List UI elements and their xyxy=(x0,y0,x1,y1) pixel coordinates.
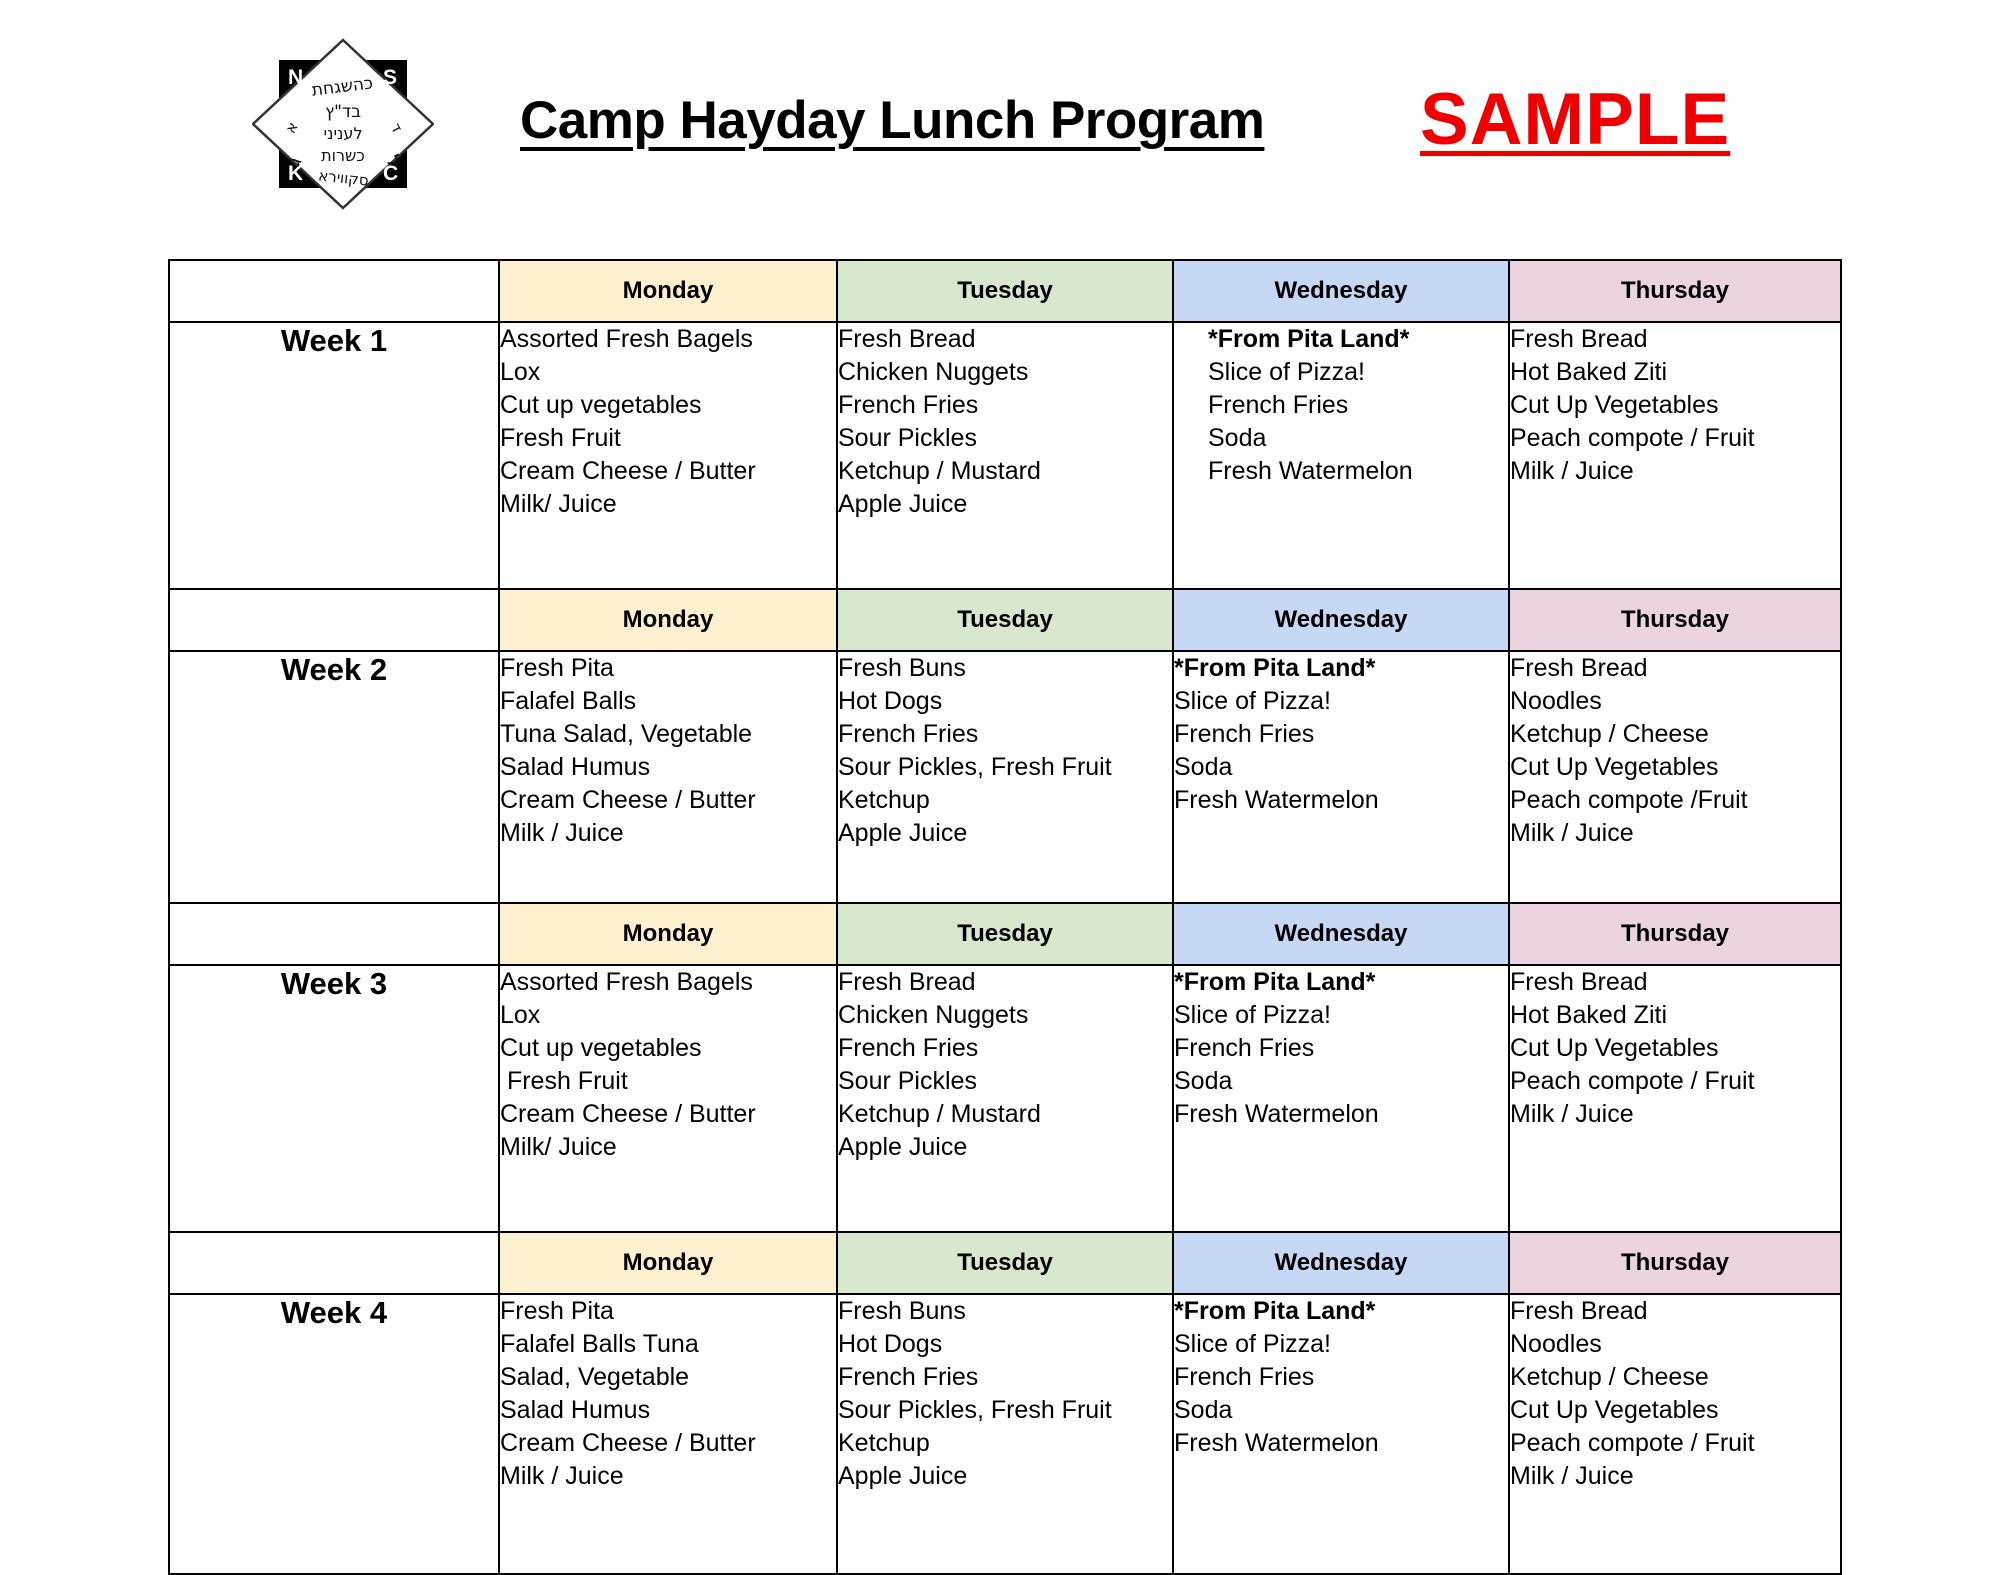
meal-cell-week2-wednesday: *From Pita Land*Slice of Pizza!French Fr… xyxy=(1173,651,1509,903)
svg-text:N: N xyxy=(288,66,303,89)
day-header-row-week-4: Monday Tuesday Wednesday Thursday xyxy=(169,1232,1841,1294)
menu-item: Slice of Pizza! xyxy=(1174,999,1508,1032)
menu-item: Milk / Juice xyxy=(1510,455,1840,488)
meal-cell-week3-tuesday: Fresh BreadChicken NuggetsFrench FriesSo… xyxy=(837,965,1173,1232)
menu-item: Fresh Buns xyxy=(838,1295,1172,1328)
menu-item: Apple Juice xyxy=(838,817,1172,850)
menu-item: Ketchup xyxy=(838,1427,1172,1460)
day-header-thursday: Thursday xyxy=(1509,260,1841,322)
menu-item: Cream Cheese / Butter xyxy=(500,455,836,488)
menu-item: Milk / Juice xyxy=(1510,1098,1840,1131)
menu-item: Peach compote / Fruit xyxy=(1510,422,1840,455)
page-title: Camp Hayday Lunch Program xyxy=(520,90,1264,151)
menu-item: Soda xyxy=(1174,1394,1508,1427)
menu-item: Cut Up Vegetables xyxy=(1510,389,1840,422)
meal-cell-week3-monday: Assorted Fresh BagelsLoxCut up vegetable… xyxy=(499,965,837,1232)
menu-item: Salad, Vegetable xyxy=(500,1361,836,1394)
menu-item: Falafel Balls xyxy=(500,685,836,718)
menu-item: Chicken Nuggets xyxy=(838,356,1172,389)
menu-item: Noodles xyxy=(1510,685,1840,718)
menu-item: Fresh Bread xyxy=(838,323,1172,356)
menu-item: French Fries xyxy=(838,1032,1172,1065)
kosher-supervision-diamond-logo: N S K C כהשגחת בד"ץ לעניני כשרות סקווירא… xyxy=(252,38,434,210)
day-header-monday: Monday xyxy=(499,1232,837,1294)
menu-item: Cut up vegetables xyxy=(500,1032,836,1065)
menu-item: Fresh Pita xyxy=(500,652,836,685)
menu-item: Noodles xyxy=(1510,1328,1840,1361)
meal-cell-week3-wednesday: *From Pita Land*Slice of Pizza!French Fr… xyxy=(1173,965,1509,1232)
menu-item: Milk / Juice xyxy=(500,1460,836,1493)
svg-text:לעניני: לעניני xyxy=(323,124,362,143)
menu-item: Fresh Bread xyxy=(1510,966,1840,999)
week-label-2: Week 2 xyxy=(169,651,499,903)
meal-cell-week4-thursday: Fresh BreadNoodlesKetchup / CheeseCut Up… xyxy=(1509,1294,1841,1574)
menu-item: Slice of Pizza! xyxy=(1174,685,1508,718)
menu-item: Fresh Bread xyxy=(1510,652,1840,685)
week-label-3: Week 3 xyxy=(169,965,499,1232)
menu-item: Milk/ Juice xyxy=(500,488,836,521)
day-header-row-week-1: Monday Tuesday Wednesday Thursday xyxy=(169,260,1841,322)
day-header-monday: Monday xyxy=(499,260,837,322)
day-header-thursday: Thursday xyxy=(1509,589,1841,651)
menu-item: Peach compote /Fruit xyxy=(1510,784,1840,817)
menu-item: *From Pita Land* xyxy=(1174,652,1508,685)
menu-item: Fresh Bread xyxy=(838,966,1172,999)
day-header-wednesday: Wednesday xyxy=(1173,589,1509,651)
menu-item: Milk/ Juice xyxy=(500,1131,836,1164)
menu-item: Fresh Fruit xyxy=(500,422,836,455)
menu-item: Milk / Juice xyxy=(500,817,836,850)
meal-cell-week3-thursday: Fresh BreadHot Baked ZitiCut Up Vegetabl… xyxy=(1509,965,1841,1232)
menu-item: Apple Juice xyxy=(838,1460,1172,1493)
day-header-wednesday: Wednesday xyxy=(1173,1232,1509,1294)
table-row-week-1: Week 1 Assorted Fresh BagelsLoxCut up ve… xyxy=(169,322,1841,589)
menu-item: Assorted Fresh Bagels xyxy=(500,323,836,356)
week-label-4: Week 4 xyxy=(169,1294,499,1574)
menu-item: Hot Baked Ziti xyxy=(1510,356,1840,389)
meal-cell-week4-tuesday: Fresh BunsHot DogsFrench FriesSour Pickl… xyxy=(837,1294,1173,1574)
menu-item: Milk / Juice xyxy=(1510,817,1840,850)
week-label-1: Week 1 xyxy=(169,322,499,589)
menu-item: Cut Up Vegetables xyxy=(1510,751,1840,784)
menu-item: Cream Cheese / Butter xyxy=(500,1427,836,1460)
menu-item: Hot Dogs xyxy=(838,685,1172,718)
menu-item: Sour Pickles xyxy=(838,422,1172,455)
menu-item: Sour Pickles, Fresh Fruit xyxy=(838,1394,1172,1427)
menu-item: Salad Humus xyxy=(500,751,836,784)
day-header-tuesday: Tuesday xyxy=(837,1232,1173,1294)
menu-item: Apple Juice xyxy=(838,488,1172,521)
meal-cell-week1-thursday: Fresh BreadHot Baked ZitiCut Up Vegetabl… xyxy=(1509,322,1841,589)
menu-item: French Fries xyxy=(838,1361,1172,1394)
svg-text:בד"ץ: בד"ץ xyxy=(325,102,361,122)
menu-item: Cream Cheese / Butter xyxy=(500,1098,836,1131)
day-header-tuesday: Tuesday xyxy=(837,589,1173,651)
day-header-tuesday: Tuesday xyxy=(837,260,1173,322)
menu-item: Fresh Buns xyxy=(838,652,1172,685)
menu-item: Cut up vegetables xyxy=(500,389,836,422)
menu-item: Chicken Nuggets xyxy=(838,999,1172,1032)
day-header-wednesday: Wednesday xyxy=(1173,903,1509,965)
menu-item: Fresh Watermelon xyxy=(1174,1427,1508,1460)
menu-item: Cut Up Vegetables xyxy=(1510,1032,1840,1065)
menu-item: *From Pita Land* xyxy=(1208,323,1508,356)
day-header-row-week-3: Monday Tuesday Wednesday Thursday xyxy=(169,903,1841,965)
day-header-wednesday: Wednesday xyxy=(1173,260,1509,322)
lunch-program-page: N S K C כהשגחת בד"ץ לעניני כשרות סקווירא… xyxy=(0,0,2000,1545)
day-header-thursday: Thursday xyxy=(1509,903,1841,965)
meal-cell-week2-tuesday: Fresh BunsHot DogsFrench FriesSour Pickl… xyxy=(837,651,1173,903)
menu-item: Soda xyxy=(1174,751,1508,784)
menu-item: Fresh Watermelon xyxy=(1174,1098,1508,1131)
menu-item: Lox xyxy=(500,999,836,1032)
menu-item: Ketchup xyxy=(838,784,1172,817)
menu-item: Lox xyxy=(500,356,836,389)
menu-item: Hot Baked Ziti xyxy=(1510,999,1840,1032)
menu-item: Sour Pickles xyxy=(838,1065,1172,1098)
menu-item: Fresh Pita xyxy=(500,1295,836,1328)
menu-item: Falafel Balls Tuna xyxy=(500,1328,836,1361)
menu-item: French Fries xyxy=(1208,389,1508,422)
menu-item: Ketchup / Mustard xyxy=(838,1098,1172,1131)
menu-item: Cream Cheese / Butter xyxy=(500,784,836,817)
menu-item: Cut Up Vegetables xyxy=(1510,1394,1840,1427)
menu-item: Ketchup / Cheese xyxy=(1510,1361,1840,1394)
meal-cell-week4-monday: Fresh PitaFalafel Balls TunaSalad, Veget… xyxy=(499,1294,837,1574)
menu-item: Soda xyxy=(1208,422,1508,455)
menu-item: Fresh Bread xyxy=(1510,323,1840,356)
menu-item: French Fries xyxy=(1174,1361,1508,1394)
table-row-week-2: Week 2 Fresh PitaFalafel BallsTuna Salad… xyxy=(169,651,1841,903)
menu-table-body: Monday Tuesday Wednesday Thursday Week 1… xyxy=(169,260,1841,1574)
menu-item: Fresh Watermelon xyxy=(1208,455,1508,488)
page-header: N S K C כהשגחת בד"ץ לעניני כשרות סקווירא… xyxy=(0,0,2000,220)
menu-item: Sour Pickles, Fresh Fruit xyxy=(838,751,1172,784)
day-header-monday: Monday xyxy=(499,903,837,965)
menu-item: Soda xyxy=(1174,1065,1508,1098)
menu-item: Milk / Juice xyxy=(1510,1460,1840,1493)
menu-item: Peach compote / Fruit xyxy=(1510,1065,1840,1098)
day-header-row-week-2: Monday Tuesday Wednesday Thursday xyxy=(169,589,1841,651)
day-header-monday: Monday xyxy=(499,589,837,651)
menu-item: Tuna Salad, Vegetable xyxy=(500,718,836,751)
corner-blank-cell xyxy=(169,260,499,322)
table-row-week-4: Week 4 Fresh PitaFalafel Balls TunaSalad… xyxy=(169,1294,1841,1574)
menu-item: Ketchup / Cheese xyxy=(1510,718,1840,751)
lunch-menu-table: Monday Tuesday Wednesday Thursday Week 1… xyxy=(168,259,1842,1575)
menu-item: Apple Juice xyxy=(838,1131,1172,1164)
menu-item: Hot Dogs xyxy=(838,1328,1172,1361)
menu-item: Peach compote / Fruit xyxy=(1510,1427,1840,1460)
svg-text:כשרות: כשרות xyxy=(321,146,365,165)
corner-blank-cell xyxy=(169,589,499,651)
meal-cell-week1-tuesday: Fresh BreadChicken NuggetsFrench FriesSo… xyxy=(837,322,1173,589)
meal-cell-week1-wednesday: *From Pita Land*Slice of Pizza!French Fr… xyxy=(1173,322,1509,589)
menu-item: Ketchup / Mustard xyxy=(838,455,1172,488)
menu-item: Fresh Watermelon xyxy=(1174,784,1508,817)
day-header-tuesday: Tuesday xyxy=(837,903,1173,965)
meal-cell-week2-thursday: Fresh BreadNoodlesKetchup / CheeseCut Up… xyxy=(1509,651,1841,903)
menu-item: French Fries xyxy=(1174,718,1508,751)
menu-item: French Fries xyxy=(838,389,1172,422)
corner-blank-cell xyxy=(169,1232,499,1294)
menu-item: Slice of Pizza! xyxy=(1174,1328,1508,1361)
menu-item: Assorted Fresh Bagels xyxy=(500,966,836,999)
day-header-thursday: Thursday xyxy=(1509,1232,1841,1294)
menu-item: Fresh Fruit xyxy=(500,1065,836,1098)
table-row-week-3: Week 3 Assorted Fresh BagelsLoxCut up ve… xyxy=(169,965,1841,1232)
meal-cell-week2-monday: Fresh PitaFalafel BallsTuna Salad, Veget… xyxy=(499,651,837,903)
menu-item: Salad Humus xyxy=(500,1394,836,1427)
svg-text:S: S xyxy=(383,66,397,89)
menu-item: *From Pita Land* xyxy=(1174,966,1508,999)
meal-cell-week4-wednesday: *From Pita Land*Slice of Pizza!French Fr… xyxy=(1173,1294,1509,1574)
menu-item: Slice of Pizza! xyxy=(1208,356,1508,389)
corner-blank-cell xyxy=(169,903,499,965)
meal-cell-week1-monday: Assorted Fresh BagelsLoxCut up vegetable… xyxy=(499,322,837,589)
menu-item: Fresh Bread xyxy=(1510,1295,1840,1328)
menu-item: *From Pita Land* xyxy=(1174,1295,1508,1328)
sample-watermark-label: SAMPLE xyxy=(1420,78,1730,161)
menu-item: French Fries xyxy=(1174,1032,1508,1065)
menu-item: French Fries xyxy=(838,718,1172,751)
